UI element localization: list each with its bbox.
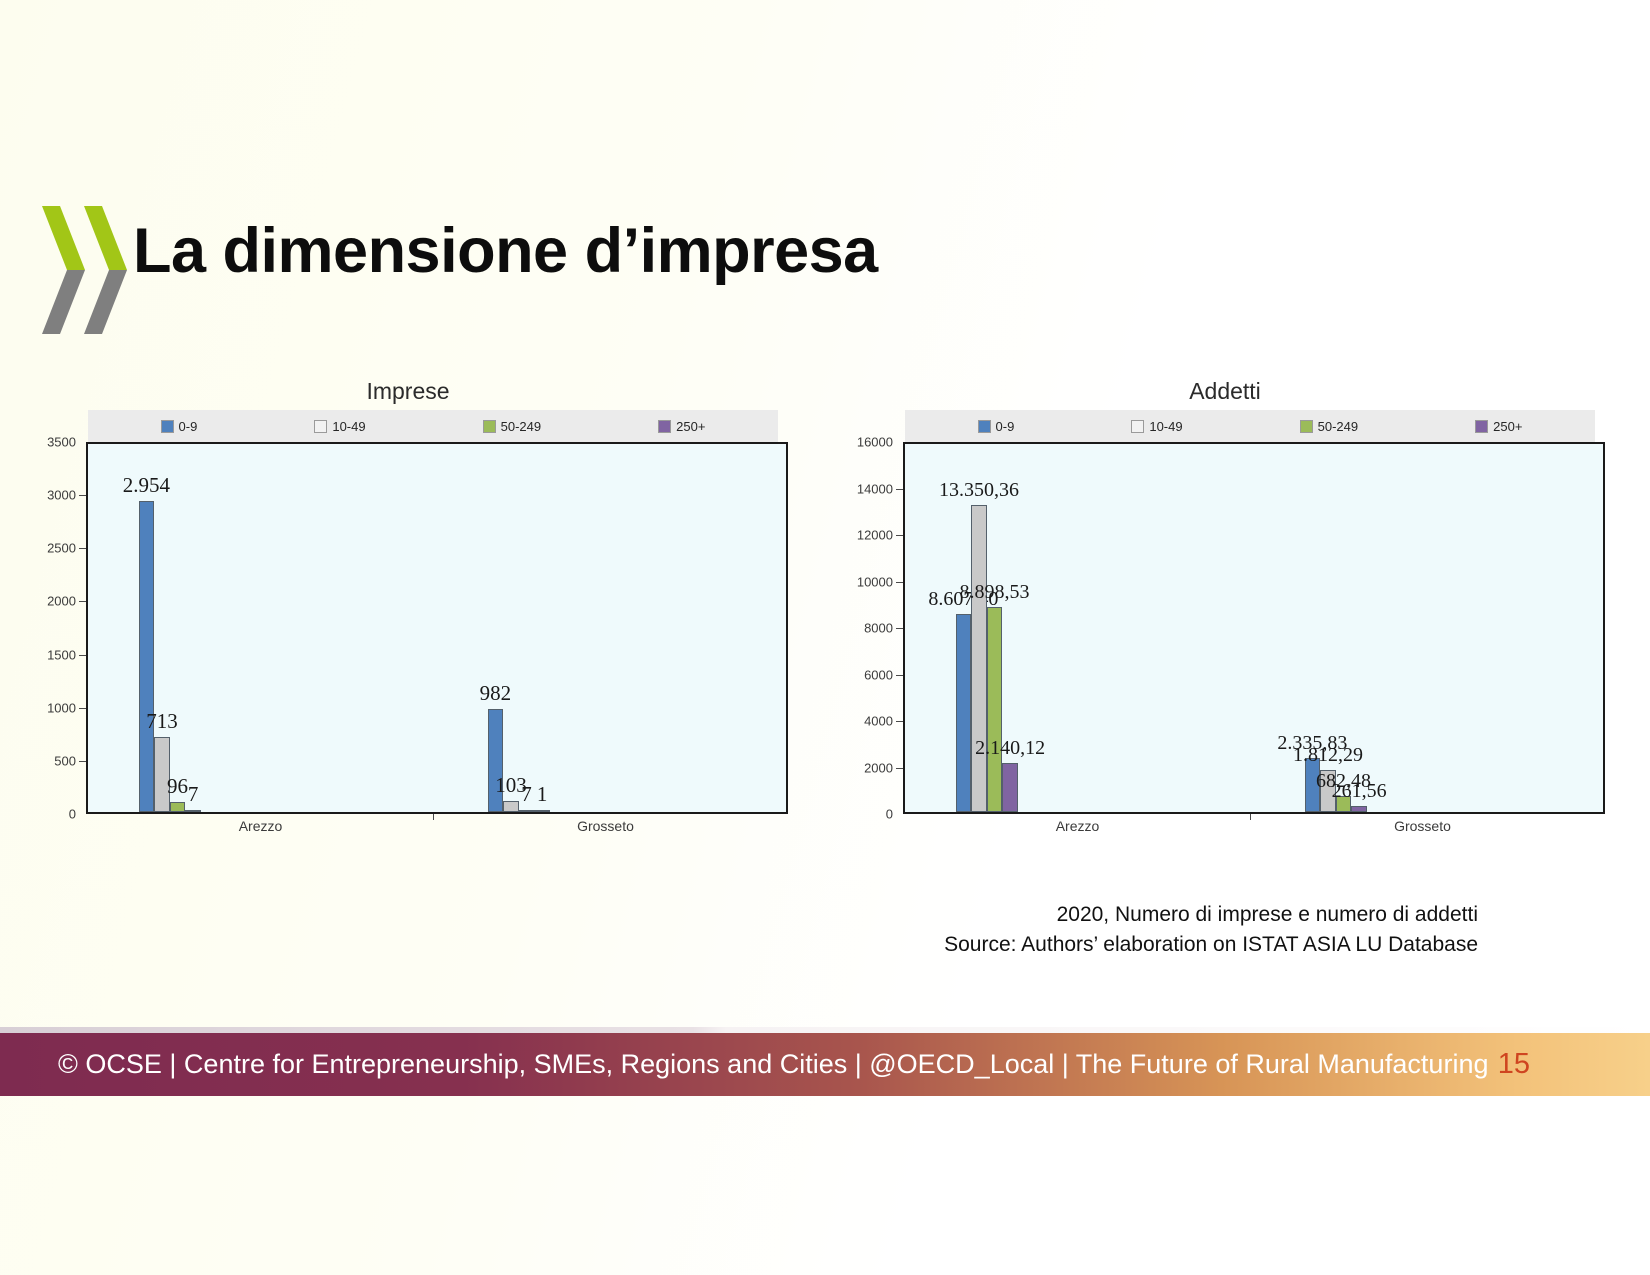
legend-item-50-249: 50-249 <box>483 419 541 434</box>
y-axis-tick-label: 2000 <box>864 760 893 775</box>
y-axis-tick-mark <box>79 708 86 709</box>
source-note: 2020, Numero di imprese e numero di adde… <box>944 900 1478 961</box>
chart-addetti: Addetti 0-9 10-49 50-249 250+ 0200040006… <box>845 378 1605 840</box>
legend-label-10-49: 10-49 <box>332 419 365 434</box>
footer-text: © OCSE | Centre for Entrepreneurship, SM… <box>58 1049 1488 1080</box>
y-axis-tick-label: 500 <box>54 753 76 768</box>
bar-value-label: 1.812,29 <box>1293 744 1363 767</box>
bar-addetti-arezzo-0-9: 8.607,40 <box>956 614 972 812</box>
bar-value-label: 713 <box>146 709 178 734</box>
legend-item-50-249: 50-249 <box>1300 419 1358 434</box>
legend-item-0-9: 0-9 <box>978 419 1015 434</box>
bar-addetti-arezzo-250+: 2.140,12 <box>1002 763 1018 812</box>
legend-label-10-49: 10-49 <box>1149 419 1182 434</box>
bar-addetti-arezzo-10-49: 13.350,36 <box>971 505 987 812</box>
bar-value-label: 7 <box>521 782 532 807</box>
y-axis-tick-label: 3000 <box>47 488 76 503</box>
category-label-grosseto: Grosseto <box>577 818 634 834</box>
chart-title-addetti: Addetti <box>845 378 1605 405</box>
y-axis-tick-label: 0 <box>886 807 893 822</box>
legend-label-50-249: 50-249 <box>1318 419 1358 434</box>
legend-swatch-0-9 <box>161 420 174 433</box>
y-axis-tick-label: 1500 <box>47 647 76 662</box>
y-axis-tick-label: 16000 <box>857 435 893 450</box>
legend-label-250plus: 250+ <box>1493 419 1522 434</box>
y-axis-tick-label: 1000 <box>47 700 76 715</box>
y-axis-tick-mark <box>896 535 903 536</box>
category-tick <box>433 814 434 820</box>
footer-bar: © OCSE | Centre for Entrepreneurship, SM… <box>0 1033 1650 1096</box>
legend-item-250plus: 250+ <box>658 419 705 434</box>
double-chevron-logo-icon <box>38 188 138 343</box>
y-axis-tick-mark <box>896 489 903 490</box>
legend-label-0-9: 0-9 <box>179 419 198 434</box>
bar-imprese-arezzo-250+: 7 <box>185 810 201 812</box>
bar-imprese-grosseto-10-49: 103 <box>503 801 519 812</box>
bar-value-label: 13.350,36 <box>939 479 1019 502</box>
y-axis-tick-label: 12000 <box>857 528 893 543</box>
y-axis-tick-mark <box>79 655 86 656</box>
y-axis-tick-label: 10000 <box>857 574 893 589</box>
bar-imprese-arezzo-0-9: 2.954 <box>139 501 155 812</box>
y-axis-tick-mark <box>79 548 86 549</box>
y-axis-tick-label: 2000 <box>47 594 76 609</box>
bar-imprese-grosseto-50-249: 7 <box>519 810 535 812</box>
category-label-grosseto: Grosseto <box>1394 818 1451 834</box>
legend-swatch-50-249 <box>1300 420 1313 433</box>
y-axis-tick-mark <box>79 761 86 762</box>
legend-item-10-49: 10-49 <box>1131 419 1182 434</box>
plot-area-addetti: 8.607,4013.350,368.898,532.140,122.335,8… <box>903 442 1605 814</box>
footer-page-number: 15 <box>1498 1048 1530 1081</box>
category-axis-imprese: ArezzoGrosseto <box>88 814 778 840</box>
y-axis-tick-label: 6000 <box>864 667 893 682</box>
bar-group: 2.335,831.812,29682,48261,56 <box>1305 444 1556 812</box>
bar-value-label: 8.898,53 <box>960 581 1030 604</box>
y-axis-addetti: 0200040006000800010000120001400016000 <box>845 442 903 814</box>
category-axis-addetti: ArezzoGrosseto <box>905 814 1595 840</box>
chart-title-imprese: Imprese <box>28 378 788 405</box>
bar-value-label: 2.954 <box>123 473 170 498</box>
bar-group: 8.607,4013.350,368.898,532.140,12 <box>956 444 1207 812</box>
page-title: La dimensione d’impresa <box>133 215 878 287</box>
legend-item-10-49: 10-49 <box>314 419 365 434</box>
category-tick <box>1250 814 1251 820</box>
bar-imprese-grosseto-250+: 1 <box>534 810 550 812</box>
source-note-line1: 2020, Numero di imprese e numero di adde… <box>944 900 1478 930</box>
legend-label-50-249: 50-249 <box>501 419 541 434</box>
legend-swatch-10-49 <box>314 420 327 433</box>
bar-value-label: 261,56 <box>1332 780 1387 803</box>
legend-swatch-50-249 <box>483 420 496 433</box>
y-axis-tick-mark <box>896 768 903 769</box>
bar-addetti-grosseto-250+: 261,56 <box>1351 806 1367 812</box>
category-label-arezzo: Arezzo <box>1056 818 1100 834</box>
y-axis-tick-mark <box>896 675 903 676</box>
y-axis-tick-mark <box>79 601 86 602</box>
y-axis-tick-label: 14000 <box>857 481 893 496</box>
bar-value-label: 1 <box>537 782 548 807</box>
legend-label-250plus: 250+ <box>676 419 705 434</box>
y-axis-tick-mark <box>79 495 86 496</box>
bar-value-label: 2.140,12 <box>975 737 1045 760</box>
chart-legend-addetti: 0-9 10-49 50-249 250+ <box>905 410 1595 442</box>
bar-value-label: 7 <box>188 782 199 807</box>
chart-imprese: Imprese 0-9 10-49 50-249 250+ 0500100015… <box>28 378 788 840</box>
legend-swatch-0-9 <box>978 420 991 433</box>
y-axis-tick-label: 0 <box>69 807 76 822</box>
bar-addetti-arezzo-50-249: 8.898,53 <box>987 607 1003 812</box>
bar-group: 98210371 <box>488 444 739 812</box>
y-axis-tick-label: 3500 <box>47 435 76 450</box>
y-axis-tick-label: 2500 <box>47 541 76 556</box>
y-axis-tick-label: 8000 <box>864 621 893 636</box>
legend-label-0-9: 0-9 <box>996 419 1015 434</box>
plot-wrap-addetti: 0200040006000800010000120001400016000 8.… <box>845 442 1605 814</box>
legend-swatch-10-49 <box>1131 420 1144 433</box>
plot-area-imprese: 2.95471396798210371 <box>86 442 788 814</box>
source-note-line2: Source: Authors’ elaboration on ISTAT AS… <box>944 930 1478 960</box>
bar-imprese-arezzo-50-249: 96 <box>170 802 186 812</box>
y-axis-imprese: 0500100015002000250030003500 <box>28 442 86 814</box>
y-axis-tick-mark <box>896 721 903 722</box>
slide: La dimensione d’impresa Imprese 0-9 10-4… <box>0 0 1650 1275</box>
plot-wrap-imprese: 0500100015002000250030003500 2.954713967… <box>28 442 788 814</box>
legend-swatch-250plus <box>1475 420 1488 433</box>
chart-legend-imprese: 0-9 10-49 50-249 250+ <box>88 410 778 442</box>
bar-group: 2.954713967 <box>139 444 390 812</box>
y-axis-tick-mark <box>896 582 903 583</box>
legend-swatch-250plus <box>658 420 671 433</box>
bar-value-label: 982 <box>480 681 512 706</box>
y-axis-tick-mark <box>896 628 903 629</box>
bar-value-label: 96 <box>167 774 188 799</box>
y-axis-tick-label: 4000 <box>864 714 893 729</box>
category-label-arezzo: Arezzo <box>239 818 283 834</box>
legend-item-250plus: 250+ <box>1475 419 1522 434</box>
legend-item-0-9: 0-9 <box>161 419 198 434</box>
